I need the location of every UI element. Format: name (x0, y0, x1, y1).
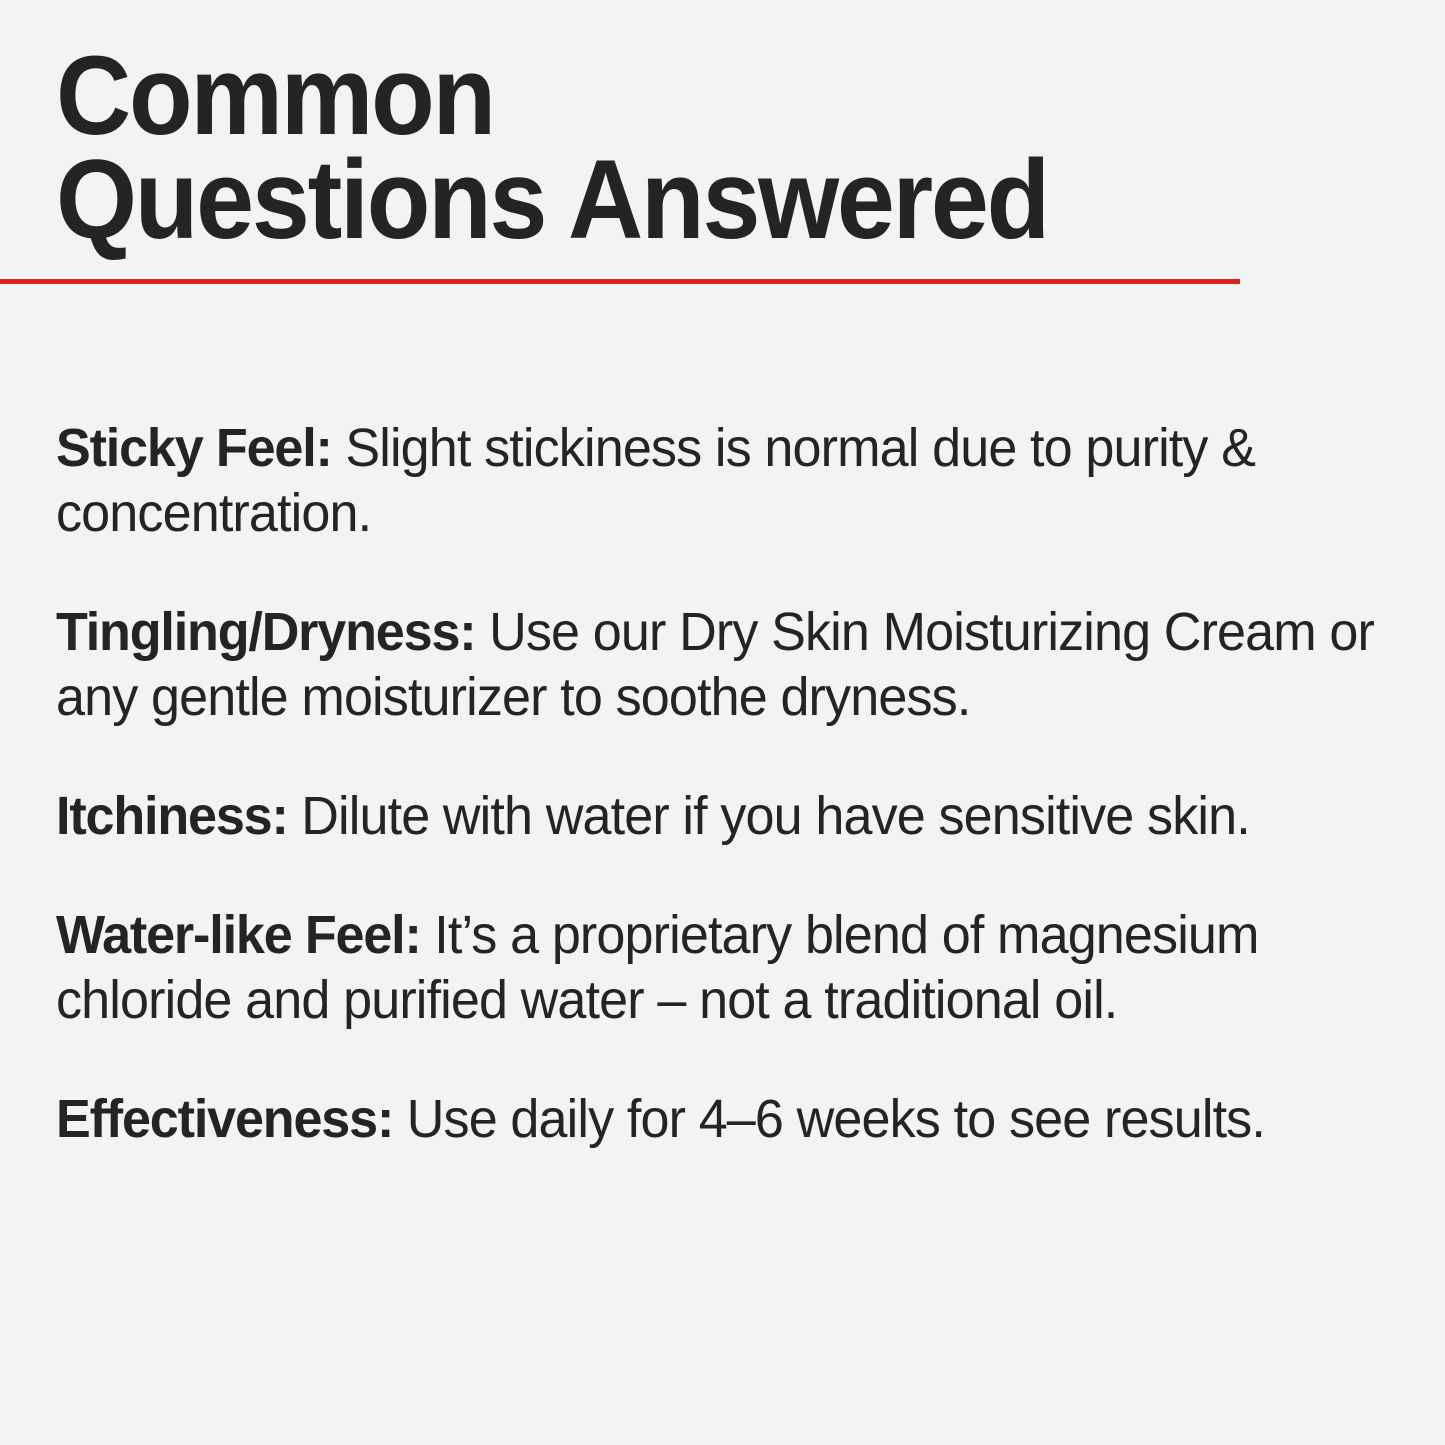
page-title: Common Questions Answered (56, 44, 1396, 252)
faq-term: Effectiveness: (56, 1089, 393, 1149)
faq-description: Dilute with water if you have sensitive … (301, 786, 1250, 846)
page-title-line-2: Questions Answered (56, 148, 1302, 252)
faq-item-itchiness: Itchiness: Dilute with water if you have… (56, 784, 1380, 849)
faq-term: Sticky Feel: (56, 418, 332, 478)
faq-term: Tingling/Dryness: (56, 602, 475, 662)
title-underline-divider (0, 279, 1240, 284)
faq-item-water-like-feel: Water-like Feel: It’s a proprietary blen… (56, 903, 1380, 1033)
faq-list: Sticky Feel: Slight stickiness is normal… (56, 362, 1428, 1152)
faq-term: Water-like Feel: (56, 905, 421, 965)
faq-infographic-page: Common Questions Answered Sticky Feel: S… (0, 0, 1445, 1445)
faq-description: Use daily for 4–6 weeks to see results. (407, 1089, 1265, 1149)
faq-item-tingling-dryness: Tingling/Dryness: Use our Dry Skin Moist… (56, 600, 1380, 730)
faq-term: Itchiness: (56, 786, 288, 846)
faq-item-sticky-feel: Sticky Feel: Slight stickiness is normal… (56, 416, 1380, 546)
page-title-line-1: Common (56, 44, 1302, 148)
faq-item-effectiveness: Effectiveness: Use daily for 4–6 weeks t… (56, 1087, 1380, 1152)
